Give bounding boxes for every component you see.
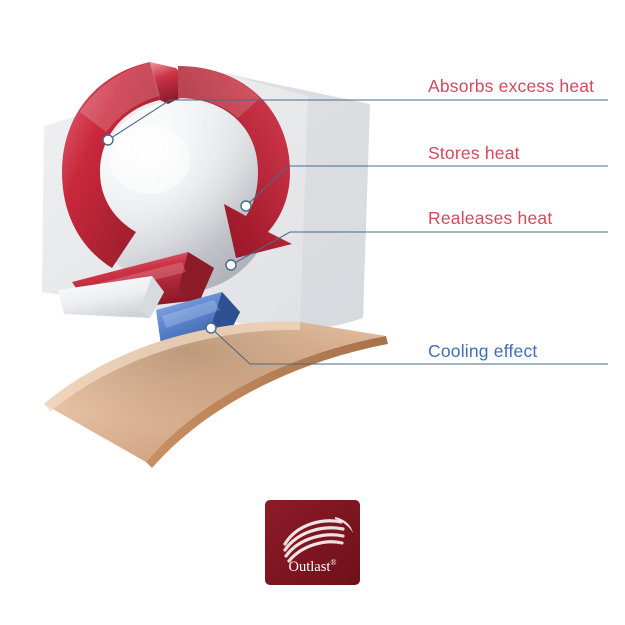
diagram-canvas: Absorbs excess heat Stores heat Realease… — [0, 0, 625, 625]
logo-brand-text: Outlast — [289, 559, 331, 575]
leader-line-absorbs — [108, 100, 608, 140]
logo-registered-mark: ® — [330, 558, 336, 567]
callout-dot-cooling — [206, 323, 216, 333]
callout-dot-absorbs — [103, 135, 113, 145]
label-stores-heat: Stores heat — [428, 143, 520, 164]
label-releases-heat: Realeases heat — [428, 208, 552, 229]
logo-box: Outlast® — [265, 500, 360, 585]
outlast-logo: Outlast® — [265, 500, 360, 585]
logo-wordmark: Outlast® — [265, 558, 360, 576]
callout-dot-releases — [226, 260, 236, 270]
callout-dot-stores — [241, 201, 251, 211]
label-absorbs-excess-heat: Absorbs excess heat — [428, 76, 594, 97]
label-cooling-effect: Cooling effect — [428, 341, 538, 362]
